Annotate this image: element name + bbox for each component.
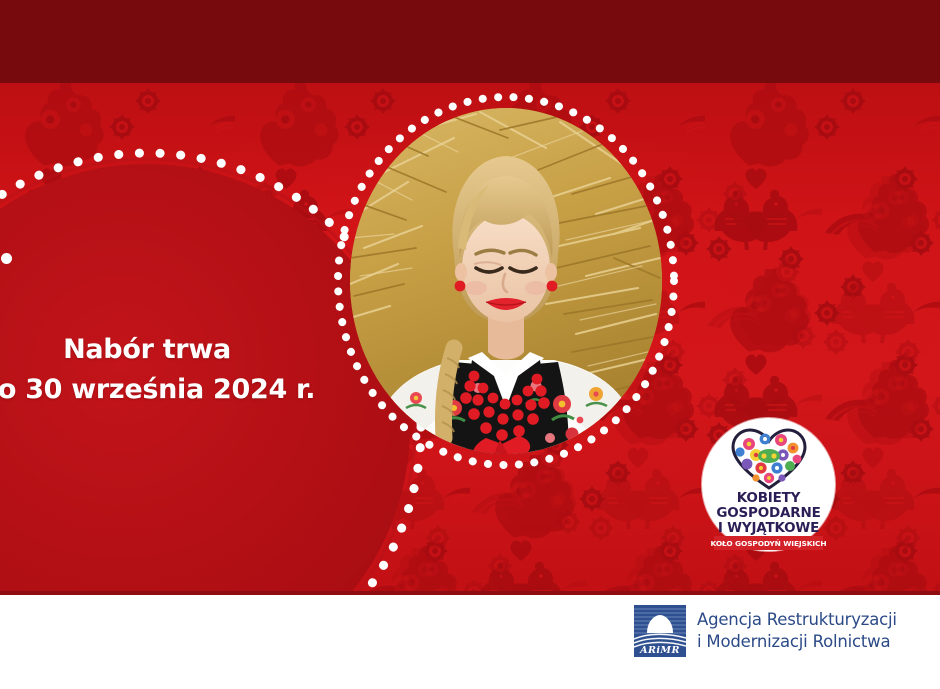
deadline-line-2: do 30 września 2024 r. bbox=[0, 370, 432, 410]
kgw-logo: KOBIETY GOSPODARNE I WYJĄTKOWE KOŁO GOSP… bbox=[702, 418, 835, 551]
arimr-logo: ARiMR Agencja Restrukturyzacji i Moderni… bbox=[634, 604, 924, 658]
arimr-sun-field-icon: ARiMR bbox=[634, 605, 686, 657]
arimr-name-line-2: i Modernizacji Rolnictwa bbox=[697, 631, 897, 653]
kgw-banner: KOŁO GOSPODYŃ WIEJSKICH bbox=[714, 536, 823, 550]
poster-canvas: Nabór trwa do 30 września 2024 r. bbox=[0, 0, 940, 689]
arimr-mark-text: ARiMR bbox=[639, 645, 680, 656]
accent-dot bbox=[1, 253, 12, 264]
photo-dotted-ring bbox=[328, 90, 684, 470]
arimr-logo-mark: ARiMR bbox=[634, 605, 686, 657]
header-band bbox=[0, 0, 940, 83]
hero-photo bbox=[328, 90, 684, 470]
campaign-deadline-text: Nabór trwa do 30 września 2024 r. bbox=[0, 330, 432, 410]
arimr-logo-name: Agencja Restrukturyzacji i Modernizacji … bbox=[697, 609, 897, 653]
kgw-line-1: KOBIETY bbox=[702, 491, 835, 505]
kgw-line-3: I WYJĄTKOWE bbox=[702, 521, 835, 535]
folk-heart-icon bbox=[729, 428, 809, 490]
arimr-name-line-1: Agencja Restrukturyzacji bbox=[697, 609, 897, 631]
kgw-banner-text: KOŁO GOSPODYŃ WIEJSKICH bbox=[711, 539, 827, 548]
kgw-line-2: GOSPODARNE bbox=[702, 506, 835, 520]
deadline-line-1: Nabór trwa bbox=[0, 330, 432, 370]
